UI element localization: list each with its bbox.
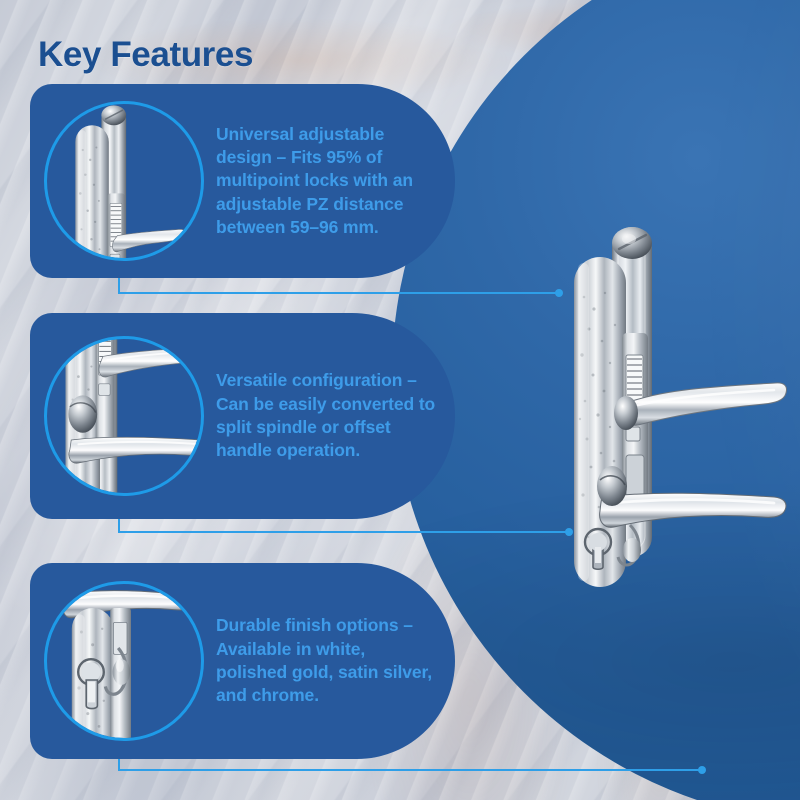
feature-card-1[interactable]: Universal adjustable design – Fits 95% o…: [30, 84, 455, 278]
feature-2-thumbnail-ring: [44, 336, 204, 496]
feature-2-thumbnail: [38, 330, 210, 502]
connector-1-horizontal: [118, 292, 559, 294]
connector-2-horizontal: [118, 531, 569, 533]
connector-3-endpoint-dot: [698, 766, 706, 774]
hero-product-image: [560, 205, 795, 605]
feature-3-thumbnail: [38, 575, 210, 747]
feature-2-text: Versatile configuration – Can be easily …: [210, 369, 455, 462]
feature-1-thumbnail-ring: [44, 101, 204, 261]
feature-card-3[interactable]: Durable finish options – Available in wh…: [30, 563, 455, 759]
feature-card-2[interactable]: Versatile configuration – Can be easily …: [30, 313, 455, 519]
feature-1-text: Universal adjustable design – Fits 95% o…: [210, 123, 455, 239]
feature-3-text: Durable finish options – Available in wh…: [210, 614, 455, 707]
feature-1-thumbnail: [38, 95, 210, 267]
connector-3-horizontal: [118, 769, 702, 771]
infographic-canvas: Key Features: [0, 0, 800, 800]
page-title: Key Features: [38, 35, 253, 75]
connector-2-endpoint-dot: [565, 528, 573, 536]
feature-3-thumbnail-ring: [44, 581, 204, 741]
connector-1-endpoint-dot: [555, 289, 563, 297]
